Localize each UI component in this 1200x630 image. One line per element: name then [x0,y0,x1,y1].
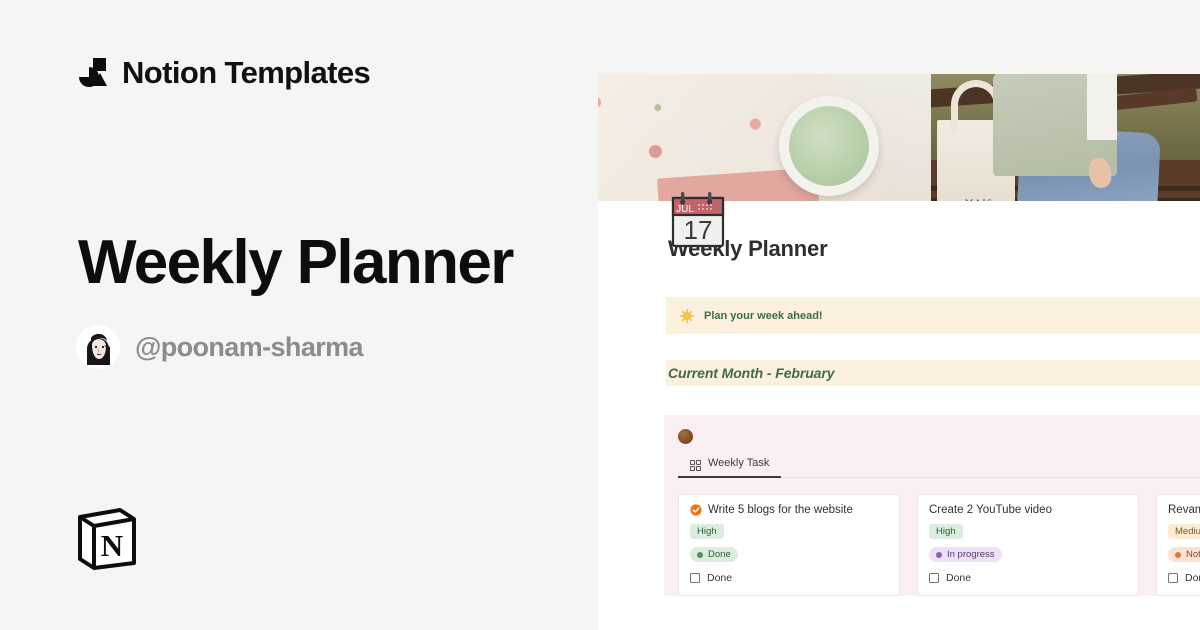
current-month-text: Current Month - February [668,365,834,381]
svg-text:N: N [101,528,123,563]
current-month-band: Current Month - February [666,360,1200,386]
cover-tote-text: MAIS [965,198,994,201]
done-checkbox-label: Done [1185,572,1200,584]
task-card-title: Revamp the portfolio page [1168,504,1200,516]
task-card-title-row: Create 2 YouTube video [929,504,1127,516]
svg-text:17: 17 [684,215,713,245]
preview-page-title: Weekly Planner [668,236,1200,262]
cover-image-bench: MAIS [931,74,1200,201]
cover-matcha-liquid [789,106,869,186]
task-card-title-row: Revamp the portfolio page [1168,504,1200,516]
cover-matcha-cup [779,96,879,196]
callout-block[interactable]: Plan your week ahead! [666,297,1200,334]
status-badge: In progress [929,547,1002,562]
status-dot-icon [936,552,942,558]
database-view-tabs: Weekly Task [678,453,1200,478]
task-card-title: Write 5 blogs for the website [708,504,853,516]
status-badge-label: Done [708,549,731,560]
done-checkbox-label: Done [707,572,732,584]
promo-card: Notion Templates Weekly Planner @poonam-… [0,0,1200,630]
status-badge-label: Not started [1186,549,1200,560]
done-checkbox[interactable] [690,573,700,583]
done-checkbox-row[interactable]: Done [929,572,1127,584]
svg-text:JUL: JUL [676,204,694,215]
status-badge: Done [690,547,738,562]
author-handle: @poonam-sharma [135,332,363,363]
priority-badge: High [929,524,963,539]
cover-image-strip: MAIS [598,74,1200,201]
task-card[interactable]: Create 2 YouTube video High In progress … [917,494,1139,596]
brand-title: Notion Templates [122,57,370,88]
author-row: @poonam-sharma [76,325,363,369]
tab-weekly-task[interactable]: Weekly Task [678,453,781,478]
status-badge: Not started [1168,547,1200,562]
status-dot-icon [1175,552,1181,558]
callout-text: Plan your week ahead! [704,310,823,322]
tab-weekly-task-label: Weekly Task [708,457,769,469]
database-container: Weekly Task Write [664,415,1200,596]
calendar-emoji[interactable]: JUL 17 [668,191,728,251]
task-card[interactable]: Revamp the portfolio page Medium Not sta… [1156,494,1200,596]
task-card-title-row: Write 5 blogs for the website [690,504,888,516]
status-dot-icon [697,552,703,558]
template-preview-panel[interactable]: MAIS [598,74,1200,630]
done-checkbox-row[interactable]: Done [1168,572,1200,584]
notion-page-body: JUL 17 Weekly Planner [598,236,1200,596]
priority-badge: High [690,524,724,539]
done-checkbox[interactable] [1168,573,1178,583]
priority-badge: Medium [1168,524,1200,539]
check-mark-emoji [690,504,702,516]
gallery-view-grid-icon [690,458,701,469]
card-gallery: Write 5 blogs for the website High Done … [678,494,1200,596]
done-checkbox-label: Done [946,572,971,584]
avatar [76,325,120,369]
status-badge-label: In progress [947,549,995,560]
done-checkbox[interactable] [929,573,939,583]
notion-cube-logo-icon: N [76,505,138,571]
sun-emoji [680,309,694,323]
done-checkbox-row[interactable]: Done [690,572,888,584]
left-panel: Notion Templates Weekly Planner @poonam-… [0,0,598,630]
brand-header: Notion Templates [76,55,370,89]
notion-templates-logo-icon [76,55,110,89]
task-card[interactable]: Write 5 blogs for the website High Done … [678,494,900,596]
cover-image-matcha [598,74,931,201]
cover-jacket-opening [1087,74,1117,140]
chocolate-ball-emoji [678,429,693,444]
task-card-title: Create 2 YouTube video [929,504,1052,516]
page-title: Weekly Planner [78,232,513,294]
